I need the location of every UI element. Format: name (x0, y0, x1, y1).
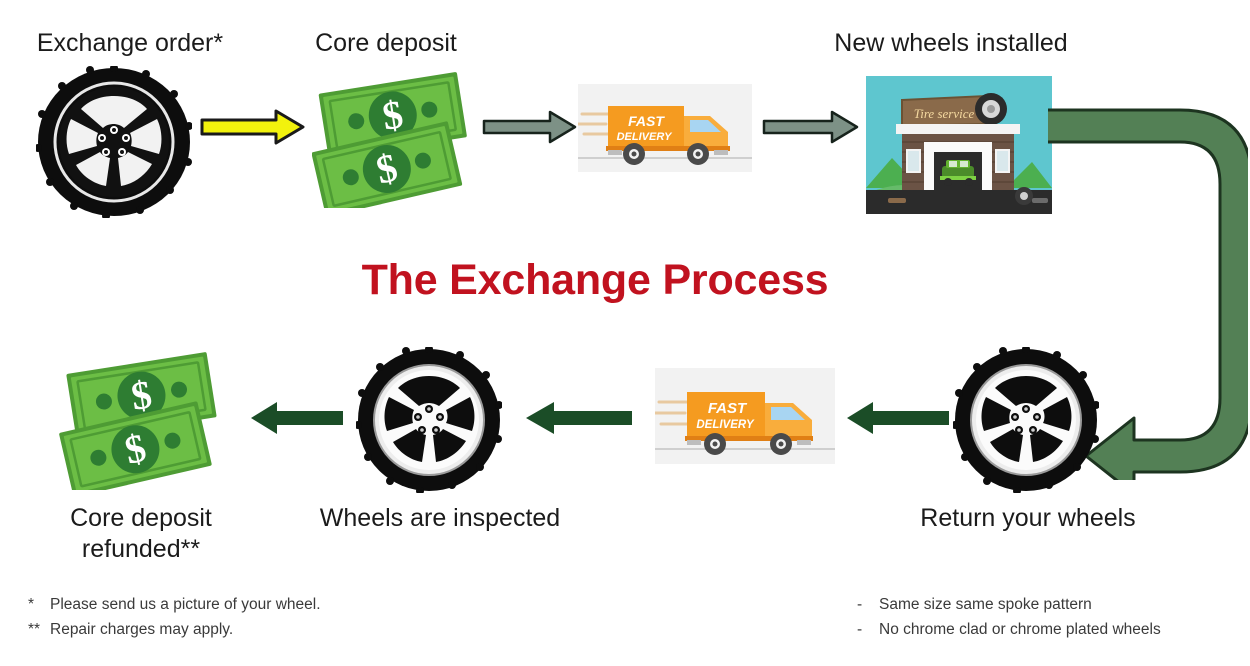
footnote-right-1-text: Same size same spoke pattern (879, 596, 1092, 613)
footnote-left-1-marker: * (28, 592, 50, 617)
svg-text:DELIVERY: DELIVERY (696, 419, 755, 431)
alloy-wheel-icon-inspected (356, 347, 502, 493)
truck-text-delivery: DELIVERY (617, 131, 673, 143)
arrow-deposit-to-truck (482, 108, 578, 146)
fast-delivery-truck-icon-outbound: FAST DELIVERY (578, 84, 752, 172)
arrow-order-to-deposit (200, 108, 306, 146)
footnotes-left: *Please send us a picture of your wheel.… (28, 592, 321, 642)
arrow-truck-to-shop (762, 108, 860, 146)
caption-return-your-wheels: Return your wheels (892, 503, 1164, 534)
footnote-right-2-text: No chrome clad or chrome plated wheels (879, 621, 1161, 638)
caption-core-deposit: Core deposit (272, 28, 500, 59)
fast-delivery-truck-icon-inbound: FAST DELIVERY (655, 368, 835, 464)
footnote-left-1: *Please send us a picture of your wheel. (28, 592, 321, 617)
footnote-right-1: -Same size same spoke pattern (857, 592, 1161, 617)
exchange-process-diagram: Exchange order* Core deposit New wheels … (0, 0, 1250, 666)
alloy-wheel-icon-order (36, 66, 192, 218)
footnote-left-2: **Repair charges may apply. (28, 617, 321, 642)
caption-new-wheels-installed: New wheels installed (790, 28, 1112, 59)
page-title: The Exchange Process (245, 256, 945, 305)
footnote-right-2: -No chrome clad or chrome plated wheels (857, 617, 1161, 642)
caption-exchange-order: Exchange order* (0, 28, 260, 59)
tire-service-shop-icon: Tire service (866, 76, 1052, 214)
arrow-truck-to-inspect (522, 400, 634, 436)
shop-sign-text: Tire service (914, 106, 975, 121)
footnote-left-2-text: Repair charges may apply. (50, 621, 233, 638)
arrow-return-to-truck (843, 400, 951, 436)
footnote-right-2-marker: - (857, 617, 879, 642)
truck-text-fast: FAST (628, 113, 665, 129)
cash-money-icon-refund: $ $ (58, 350, 234, 490)
svg-text:FAST: FAST (708, 400, 748, 417)
caption-wheels-are-inspected: Wheels are inspected (290, 503, 590, 534)
alloy-wheel-icon-return (953, 347, 1099, 493)
footnote-left-1-text: Please send us a picture of your wheel. (50, 596, 321, 613)
footnotes-right: -Same size same spoke pattern -No chrome… (857, 592, 1161, 642)
footnote-left-2-marker: ** (28, 617, 50, 642)
arrow-inspect-to-refund (247, 400, 345, 436)
footnote-right-1-marker: - (857, 592, 879, 617)
cash-money-icon-deposit: $ $ (312, 68, 480, 208)
caption-core-deposit-refunded: Core deposit refunded** (30, 503, 252, 564)
